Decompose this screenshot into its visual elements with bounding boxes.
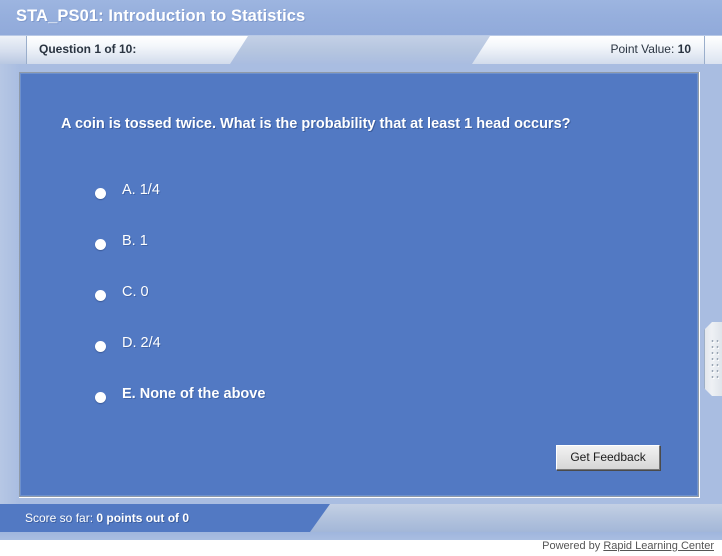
- qbar-angled-slab: [230, 36, 490, 64]
- radio-bullet-icon[interactable]: [95, 392, 106, 403]
- score-bar: Score so far: 0 points out of 0: [0, 504, 722, 532]
- answer-choice-label: C. 0: [122, 284, 149, 300]
- question-text: A coin is tossed twice. What is the prob…: [61, 114, 626, 135]
- answer-choice-b[interactable]: B. 1: [95, 233, 615, 284]
- answer-choice-e[interactable]: E. None of the above: [95, 386, 615, 437]
- quiz-application: STA_PS01: Introduction to Statistics Que…: [0, 0, 722, 556]
- radio-bullet-icon[interactable]: [95, 239, 106, 250]
- point-value-number: 10: [678, 42, 691, 56]
- footer-brand-link[interactable]: Rapid Learning Center: [603, 540, 714, 552]
- drag-grip-icon[interactable]: [704, 322, 722, 396]
- score-value: 0 points out of 0: [96, 511, 189, 525]
- qbar-left-cap: [0, 36, 27, 64]
- page-title: STA_PS01: Introduction to Statistics: [16, 7, 305, 26]
- point-value-label: Point Value:: [610, 42, 677, 56]
- answer-choice-label: B. 1: [122, 233, 148, 249]
- get-feedback-button[interactable]: Get Feedback: [556, 445, 660, 470]
- point-value: Point Value: 10: [610, 42, 691, 56]
- radio-bullet-icon[interactable]: [95, 188, 106, 199]
- left-rail: [0, 64, 19, 532]
- radio-bullet-icon[interactable]: [95, 290, 106, 301]
- quiz-body: A coin is tossed twice. What is the prob…: [0, 64, 722, 532]
- quiz-body-background: A coin is tossed twice. What is the prob…: [0, 64, 722, 532]
- drag-grip-dots: [710, 338, 719, 380]
- answer-choice-c[interactable]: C. 0: [95, 284, 615, 335]
- answer-choice-label: D. 2/4: [122, 335, 161, 351]
- answer-choice-a[interactable]: A. 1/4: [95, 182, 615, 233]
- qbar-right-cap: [704, 36, 722, 64]
- content-frame: A coin is tossed twice. What is the prob…: [19, 72, 700, 498]
- score-text: Score so far: 0 points out of 0: [25, 511, 189, 525]
- radio-bullet-icon[interactable]: [95, 341, 106, 352]
- question-panel: A coin is tossed twice. What is the prob…: [20, 73, 698, 496]
- score-prefix: Score so far:: [25, 511, 96, 525]
- answer-choice-label: E. None of the above: [122, 386, 265, 402]
- footer-powered-by: Powered by: [542, 540, 603, 552]
- footer: Powered by Rapid Learning Center: [0, 532, 722, 556]
- footer-strip: [0, 532, 722, 540]
- question-info-bar: Question 1 of 10: Point Value: 10: [0, 36, 722, 64]
- answer-choice-list: A. 1/4 B. 1 C. 0 D. 2/4: [95, 182, 615, 437]
- answer-choice-label: A. 1/4: [122, 182, 160, 198]
- footer-credit: Powered by Rapid Learning Center: [542, 540, 714, 552]
- question-counter: Question 1 of 10:: [39, 42, 136, 56]
- answer-choice-d[interactable]: D. 2/4: [95, 335, 615, 386]
- title-bar: STA_PS01: Introduction to Statistics: [0, 0, 722, 36]
